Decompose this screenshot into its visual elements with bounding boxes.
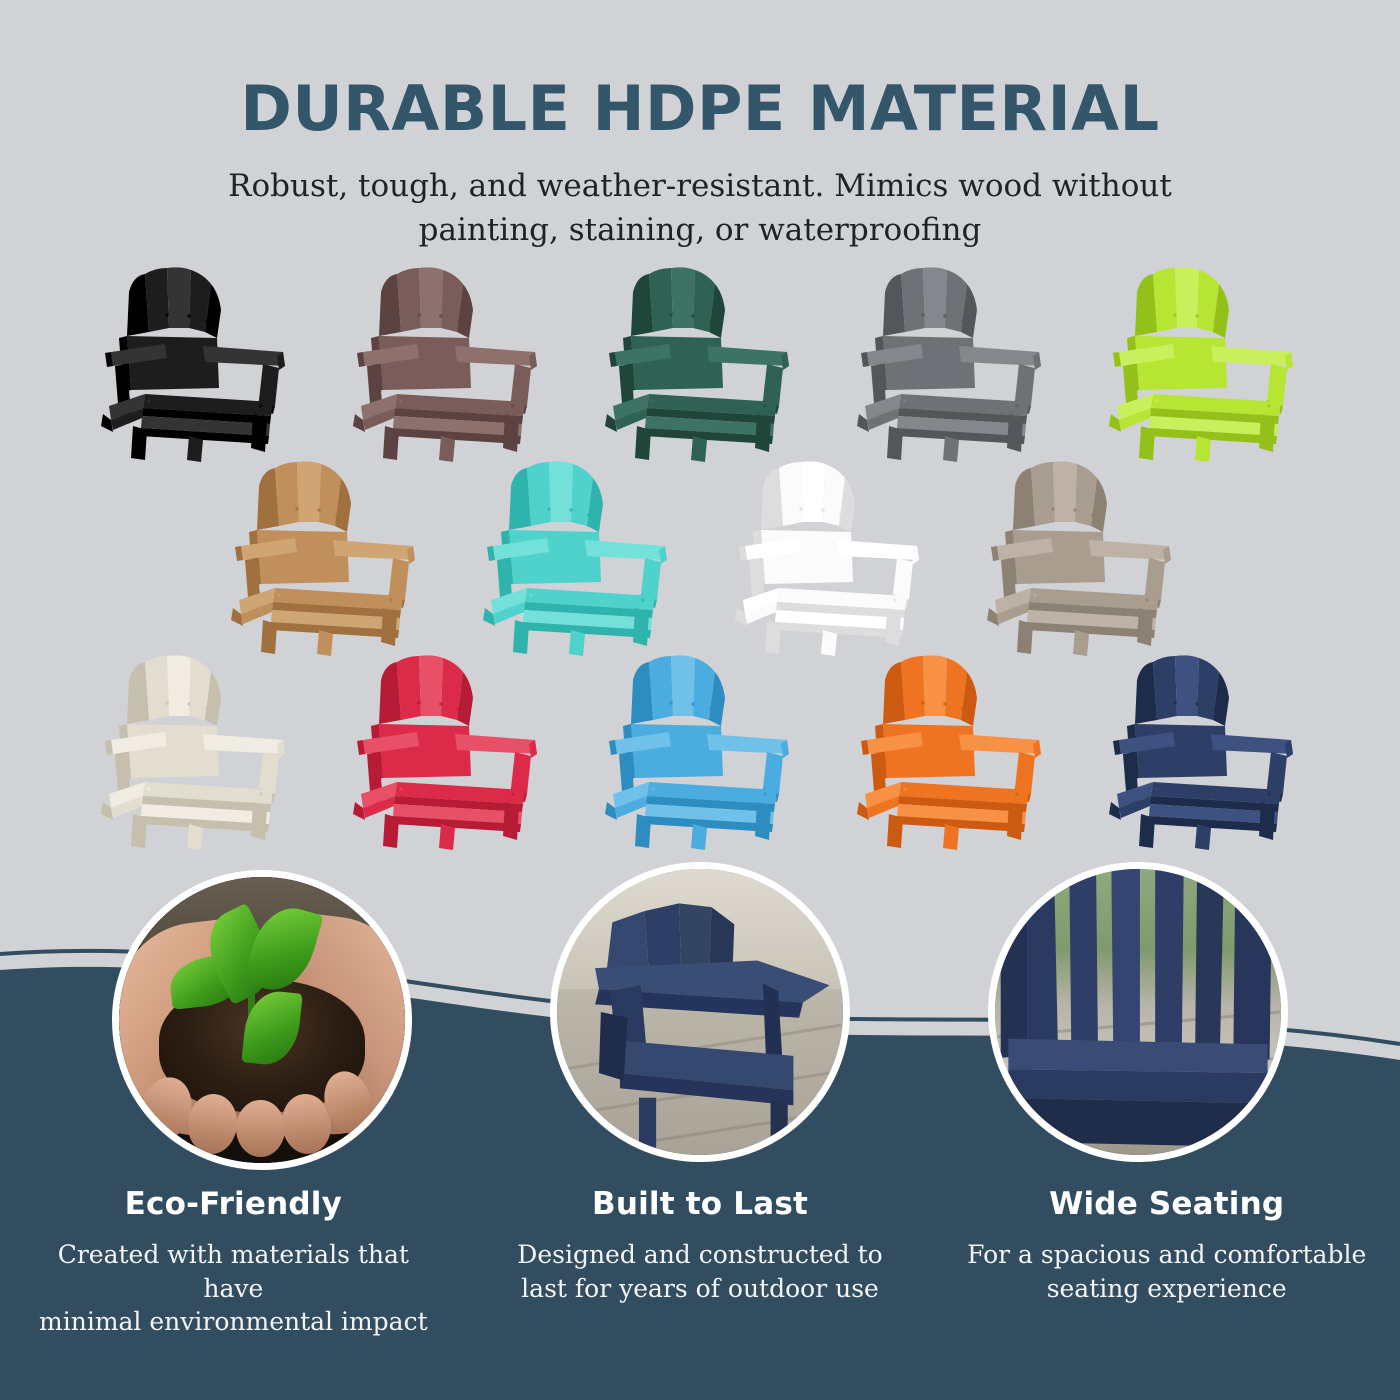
- feature-description: Created with materials that have minimal…: [26, 1238, 441, 1339]
- eco-hands-seedling-photo: [112, 870, 412, 1170]
- feature-title: Built to Last: [493, 1186, 908, 1222]
- page-title: DURABLE HDPE MATERIAL: [0, 78, 1400, 140]
- feature-photos: [0, 862, 1400, 1192]
- feature-title: Eco-Friendly: [26, 1186, 441, 1222]
- chair-swatch-turquoise[interactable]: [465, 456, 697, 656]
- chair-swatch-lime-green[interactable]: [1091, 262, 1323, 462]
- subtitle-line-1: Robust, tough, and weather-resistant. Mi…: [0, 164, 1400, 208]
- chair-illustration: [475, 460, 687, 656]
- chair-illustration: [727, 460, 939, 656]
- chair-swatch-brown[interactable]: [335, 262, 567, 462]
- feature-description: For a spacious and comfortable seating e…: [959, 1238, 1374, 1305]
- feature-desc-line-1: For a spacious and comfortable: [959, 1238, 1374, 1272]
- feature-description: Designed and constructed to last for yea…: [493, 1238, 908, 1305]
- chair-color-grid: [0, 262, 1400, 850]
- feature-list: Eco-Friendly Created with materials that…: [0, 1186, 1400, 1339]
- feature-desc-line-2: seating experience: [959, 1272, 1374, 1306]
- feature-desc-line-1: Designed and constructed to: [493, 1238, 908, 1272]
- chair-swatch-teak[interactable]: [213, 456, 445, 656]
- chair-swatch-black[interactable]: [83, 262, 315, 462]
- feature-wide-seating: Wide Seating For a spacious and comforta…: [933, 1186, 1400, 1339]
- feature-desc-line-1: Created with materials that have: [26, 1238, 441, 1305]
- chair-illustration: [345, 266, 557, 462]
- chair-illustration: [979, 460, 1191, 656]
- chair-swatch-blue[interactable]: [587, 650, 819, 850]
- chair-illustration: [849, 266, 1061, 462]
- chair-swatch-orange[interactable]: [839, 650, 1071, 850]
- chair-swatch-navy[interactable]: [1091, 650, 1323, 850]
- chair-illustration: [1101, 654, 1313, 850]
- chair-illustration: [597, 654, 809, 850]
- chair-swatch-taupe[interactable]: [969, 456, 1201, 656]
- page-subtitle: Robust, tough, and weather-resistant. Mi…: [0, 164, 1400, 252]
- feature-eco-friendly: Eco-Friendly Created with materials that…: [0, 1186, 467, 1339]
- chair-swatch-gray[interactable]: [839, 262, 1071, 462]
- chair-illustration: [93, 266, 305, 462]
- chair-row-1: [6, 262, 1400, 462]
- chair-illustration: [93, 654, 305, 850]
- chair-illustration: [849, 654, 1061, 850]
- navy-chair-patio-photo: [550, 862, 850, 1162]
- subtitle-line-2: painting, staining, or waterproofing: [0, 208, 1400, 252]
- chair-illustration: [223, 460, 435, 656]
- chair-swatch-ivory[interactable]: [83, 650, 315, 850]
- infographic-page: DURABLE HDPE MATERIAL Robust, tough, and…: [0, 0, 1400, 1400]
- wide-seat-closeup-photo: [988, 862, 1288, 1162]
- chair-row-2: [14, 456, 1400, 656]
- feature-desc-line-2: last for years of outdoor use: [493, 1272, 908, 1306]
- chair-swatch-red[interactable]: [335, 650, 567, 850]
- chair-row-3: [6, 650, 1400, 850]
- chair-illustration: [1101, 266, 1313, 462]
- feature-desc-line-2: minimal environmental impact: [26, 1305, 441, 1339]
- header: DURABLE HDPE MATERIAL Robust, tough, and…: [0, 0, 1400, 252]
- feature-title: Wide Seating: [959, 1186, 1374, 1222]
- chair-swatch-white[interactable]: [717, 456, 949, 656]
- chair-swatch-dark-green[interactable]: [587, 262, 819, 462]
- chair-illustration: [345, 654, 557, 850]
- chair-illustration: [597, 266, 809, 462]
- feature-built-to-last: Built to Last Designed and constructed t…: [467, 1186, 934, 1339]
